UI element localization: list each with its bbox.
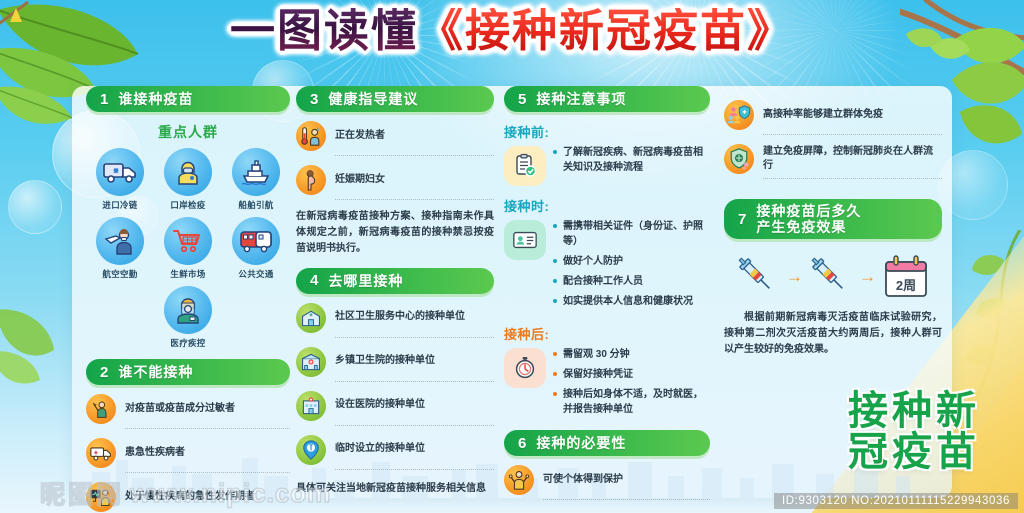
divider [335,155,494,156]
strong-person-icon [504,465,534,495]
watermark-id: ID:9303120 NO:20210111115229943036 [774,493,1018,509]
column-3: 5 接种注意事项 接种前: 了解新冠疾病、新冠病毒疫苗相关知识及接种流程 接种时… [504,86,710,500]
group-item[interactable]: 航空空勤 [91,217,149,280]
group-immunity-icon [724,100,754,130]
bullet-item: 如实提供本人信息和健康状况 [553,294,710,309]
quarantine-worker-icon [164,148,212,196]
arrow-right-icon: → [859,267,876,287]
section-number: 6 [518,435,526,452]
section-title: 谁不能接种 [118,364,193,380]
ambulance-icon [86,438,116,468]
column-2: 3 健康指导建议 正在发热者 妊娠期妇女 在新冠病毒疫苗接种方案、接种指南未作具… [296,86,494,494]
list-item[interactable]: 妊娠期妇女 [296,165,494,195]
section-title: 接种注意事项 [536,91,626,107]
leaf-cluster-lower-left [0,300,62,390]
allergy-person-icon [86,394,116,424]
ship-icon [232,148,280,196]
thermometer-icon [296,121,326,151]
divider [125,472,290,473]
section-7-note: 根据前期新冠病毒灭活疫苗临床试验研究，接种第二剂次灭活疫苗大约两周后，接种人群可… [724,310,942,359]
phase-block-during: 需携带相关证件（身份证、护照等） 做好个人防护 配合接种工作人员 如实提供本人信… [504,219,710,314]
section-number: 1 [100,91,108,108]
stopwatch-icon [504,348,546,388]
bullet-item: 接种后如身体不适，及时就医，并报告接种单位 [553,387,710,417]
list-item-label: 高接种率能够建立群体免疫 [763,108,942,123]
truck-icon [96,148,144,196]
arrow-right-icon: → [786,267,803,287]
list-item[interactable]: 正在发热者 [296,121,494,151]
list-item[interactable]: 可使个体得到保护 [504,465,710,495]
column-1: 1 谁接种疫苗 重点人群 进口冷链 口岸检疫 船舶引航 [86,86,290,513]
township-clinic-icon [296,347,326,377]
section-title-line-1: 接种疫苗后多久 [756,203,861,219]
group-item[interactable]: 进口冷链 [91,148,149,211]
group-item[interactable]: 口岸检疫 [159,148,217,211]
list-item[interactable]: 社区卫生服务中心的接种单位 [296,303,494,333]
location-pin-icon [296,435,326,465]
section-header-4: 4 去哪里接种 [296,268,494,294]
group-label: 航空空勤 [91,268,149,280]
title-part-1: 一图读懂 [230,8,418,53]
brand-line-2: 冠疫苗 [848,432,980,473]
divider [335,381,494,382]
bullet-item: 需留观 30 分钟 [553,347,710,362]
group-label: 公共交通 [227,268,285,280]
section-title: 谁接种疫苗 [118,91,193,107]
list-item[interactable]: 患急性疾病者 [86,438,290,468]
divider [543,499,710,500]
key-groups-grid: 进口冷链 口岸检疫 船舶引航 航空空勤 [86,148,290,349]
section-header-3: 3 健康指导建议 [296,86,494,112]
section-title: 接种的必要性 [536,435,626,451]
phase-label-during: 接种时: [504,196,710,215]
group-label: 医疗疾控 [86,337,290,349]
section-header-2: 2 谁不能接种 [86,359,290,385]
phase-block-before: 了解新冠疾病、新冠病毒疫苗相关知识及接种流程 [504,145,710,186]
brand-slogan: 接种新 冠疫苗 [848,391,980,473]
section-title: 接种疫苗后多久 产生免疫效果 [756,203,861,235]
section-number: 2 [100,364,108,381]
group-label: 生鲜市场 [159,268,217,280]
group-label: 口岸检疫 [159,199,217,211]
list-item-label: 可使个体得到保护 [543,473,710,488]
section-number: 5 [518,91,526,108]
section-number: 3 [310,91,318,108]
group-item[interactable]: 公共交通 [227,217,285,280]
clipboard-check-icon [504,146,546,186]
section-header-1: 1 谁接种疫苗 [86,86,290,112]
shopping-cart-icon [164,217,212,265]
bus-icon [232,217,280,265]
phase-block-after: 需留观 30 分钟 保留好接种凭证 接种后如身体不适，及时就医，并报告接种单位 [504,347,710,422]
phase-bullets-during: 需携带相关证件（身份证、护照等） 做好个人防护 配合接种工作人员 如实提供本人信… [553,219,710,314]
syringe-icon [736,253,780,301]
pregnant-woman-icon [296,165,326,195]
section-title: 健康指导建议 [328,91,418,107]
group-item[interactable]: 生鲜市场 [159,217,217,280]
divider [763,178,942,179]
medical-staff-icon [164,286,212,334]
group-item[interactable]: 船舶引航 [227,148,285,211]
list-item[interactable]: 设在医院的接种单位 [296,391,494,421]
calendar-label: 2周 [882,275,930,294]
shield-virus-icon [724,144,754,174]
bullet-item: 保留好接种凭证 [553,367,710,382]
column-4: 高接种率能够建立群体免疫 建立免疫屏障，控制新冠肺炎在人群流行 7 接种疫苗后多… [724,86,942,359]
list-item-label: 社区卫生服务中心的接种单位 [335,310,494,325]
watermark-nipic: 昵图网 www.nipic.com [40,475,331,511]
list-item[interactable]: 临时设立的接种单位 [296,435,494,465]
bokeh-bubble [8,180,62,234]
section-3-note: 在新冠病毒疫苗接种方案、接种指南未作具体规定之前，新冠病毒疫苗的接种禁忌按疫苗说… [296,209,494,258]
group-label: 船舶引航 [227,199,285,211]
list-item-label: 建立免疫屏障，控制新冠肺炎在人群流行 [763,145,942,174]
divider [335,469,494,470]
section-title: 去哪里接种 [328,273,403,289]
list-item[interactable]: 对疫苗或疫苗成分过敏者 [86,394,290,424]
divider [763,134,942,135]
section-header-5: 5 接种注意事项 [504,86,710,112]
divider [335,425,494,426]
phase-bullets-after: 需留观 30 分钟 保留好接种凭证 接种后如身体不适，及时就医，并报告接种单位 [553,347,710,422]
list-item-label: 临时设立的接种单位 [335,442,494,457]
immunity-timeline-graphic: → → 2周 [724,253,942,301]
hospital-icon [296,391,326,421]
id-card-icon [504,220,546,260]
phase-label-after: 接种后: [504,324,710,343]
divider [125,428,290,429]
phase-bullets-before: 了解新冠疾病、新冠病毒疫苗相关知识及接种流程 [553,145,710,180]
group-label: 进口冷链 [91,199,149,211]
title-part-2: 《接种新冠疫苗》 [418,8,794,53]
group-item[interactable]: 医疗疾控 [86,286,290,349]
watermark-url: www.nipic.com [130,478,331,509]
section-title-line-2: 产生免疫效果 [756,219,846,235]
list-item[interactable]: 建立免疫屏障，控制新冠肺炎在人群流行 [724,144,942,174]
bullet-item: 做好个人防护 [553,254,710,269]
brand-line-1: 接种新 [848,391,980,432]
flight-crew-icon [96,217,144,265]
divider [335,337,494,338]
bullet-item: 了解新冠疾病、新冠病毒疫苗相关知识及接种流程 [553,145,710,175]
section-number: 7 [738,211,746,228]
section-number: 4 [310,272,318,289]
section-header-6: 6 接种的必要性 [504,430,710,456]
list-item[interactable]: 高接种率能够建立群体免疫 [724,100,942,130]
list-item[interactable]: 乡镇卫生院的接种单位 [296,347,494,377]
syringe-icon [809,253,853,301]
section-header-7: 7 接种疫苗后多久 产生免疫效果 [724,199,942,239]
bullet-item: 配合接种工作人员 [553,274,710,289]
list-item-label: 乡镇卫生院的接种单位 [335,354,494,369]
list-item-label: 正在发热者 [335,129,494,144]
watermark-logo: 昵图网 [40,475,124,511]
phase-label-before: 接种前: [504,122,710,141]
calendar-icon: 2周 [882,254,930,300]
list-item-label: 妊娠期妇女 [335,173,494,188]
divider [335,199,494,200]
list-item-label: 设在医院的接种单位 [335,398,494,413]
list-item-label: 对疫苗或疫苗成分过敏者 [125,402,290,417]
list-item-label: 患急性疾病者 [125,446,290,461]
poster-title: 一图读懂《接种新冠疫苗》 [0,8,1024,53]
key-groups-subtitle: 重点人群 [86,122,290,142]
community-clinic-icon [296,303,326,333]
bullet-item: 需携带相关证件（身份证、护照等） [553,219,710,249]
